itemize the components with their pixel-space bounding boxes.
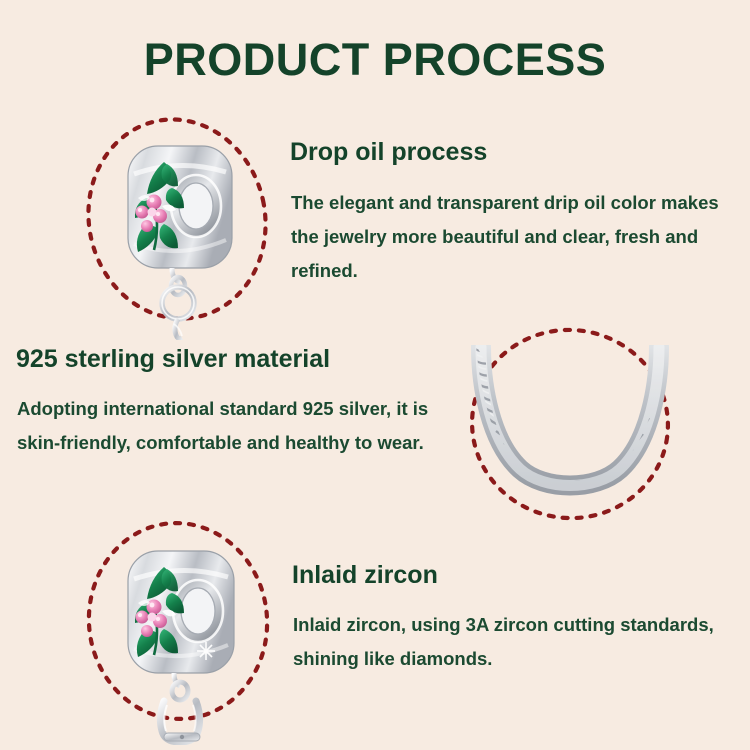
product-image-rope-chain: [470, 345, 670, 510]
feature-body-sterling-silver: Adopting international standard 925 silv…: [17, 392, 457, 460]
feature-heading-sterling-silver: 925 sterling silver material: [16, 344, 330, 374]
feature-heading-inlaid-zircon: Inlaid zircon: [292, 560, 438, 590]
charm-bead-illustration: [120, 140, 250, 340]
feature-body-inlaid-zircon: Inlaid zircon, using 3A zircon cutting s…: [293, 608, 733, 676]
feature-body-drop-oil: The elegant and transparent drip oil col…: [291, 186, 741, 288]
product-image-drop-oil-charm: [120, 140, 250, 340]
feature-heading-drop-oil: Drop oil process: [290, 137, 487, 167]
infographic-canvas: PRODUCT PROCESS: [0, 0, 750, 750]
charm-bead-clasp-illustration: [120, 545, 255, 745]
page-title: PRODUCT PROCESS: [0, 34, 750, 86]
product-image-inlaid-zircon-charm: [120, 545, 255, 745]
rope-chain-illustration: [470, 345, 670, 510]
